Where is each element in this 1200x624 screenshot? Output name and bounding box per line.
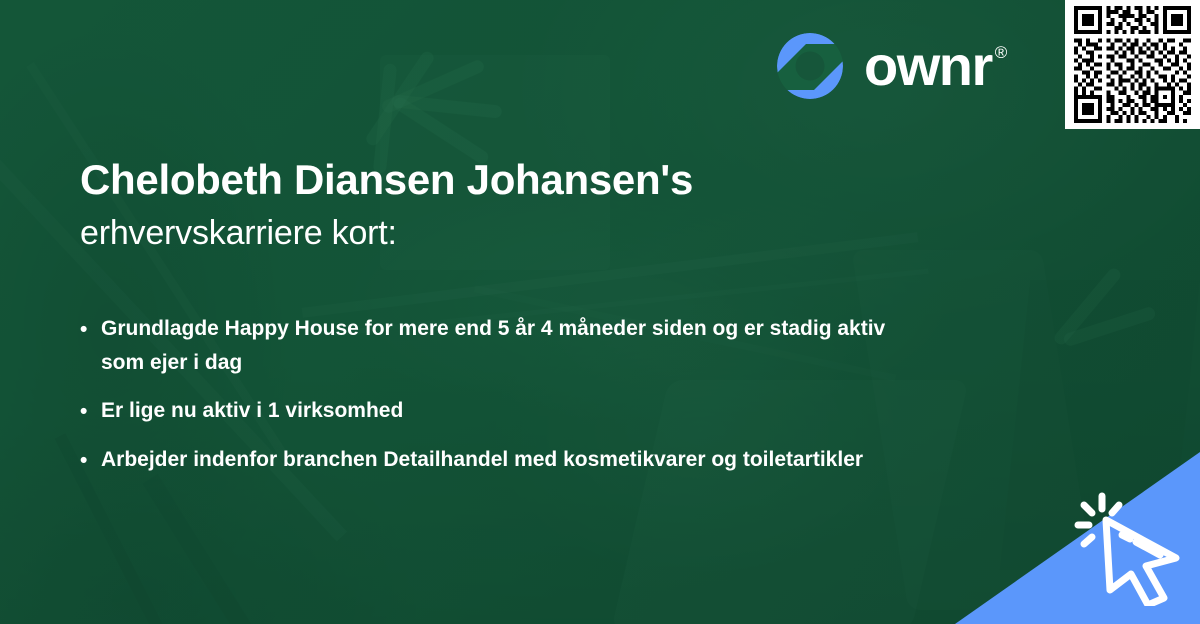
- list-item-text: Er lige nu aktiv i 1 virksomhed: [101, 394, 920, 428]
- headline-subtitle: erhvervskarriere kort:: [80, 211, 693, 255]
- brand-logo[interactable]: ownr ®: [776, 32, 1007, 100]
- bullet-icon: •: [80, 444, 101, 478]
- page-title: Chelobeth Diansen Johansen's erhvervskar…: [80, 156, 693, 255]
- qr-code-panel[interactable]: [1065, 0, 1200, 129]
- bullet-icon: •: [80, 395, 101, 429]
- career-facts-list: • Grundlagde Happy House for mere end 5 …: [80, 312, 920, 492]
- registered-trademark-icon: ®: [995, 44, 1008, 61]
- bullet-icon: •: [80, 313, 101, 347]
- qr-code[interactable]: [1074, 6, 1191, 123]
- click-cursor-icon: [1072, 486, 1192, 606]
- list-item: • Arbejder indenfor branchen Detailhande…: [80, 443, 920, 478]
- list-item-text: Arbejder indenfor branchen Detailhandel …: [101, 443, 920, 477]
- list-item: • Grundlagde Happy House for mere end 5 …: [80, 312, 920, 380]
- list-item: • Er lige nu aktiv i 1 virksomhed: [80, 394, 920, 429]
- headline-name: Chelobeth Diansen Johansen's: [80, 156, 693, 205]
- business-card-banner: ownr ®: [0, 0, 1200, 624]
- brand-name: ownr: [864, 38, 992, 94]
- ownr-circle-swirl-icon: [776, 32, 844, 100]
- list-item-text: Grundlagde Happy House for mere end 5 år…: [101, 312, 920, 380]
